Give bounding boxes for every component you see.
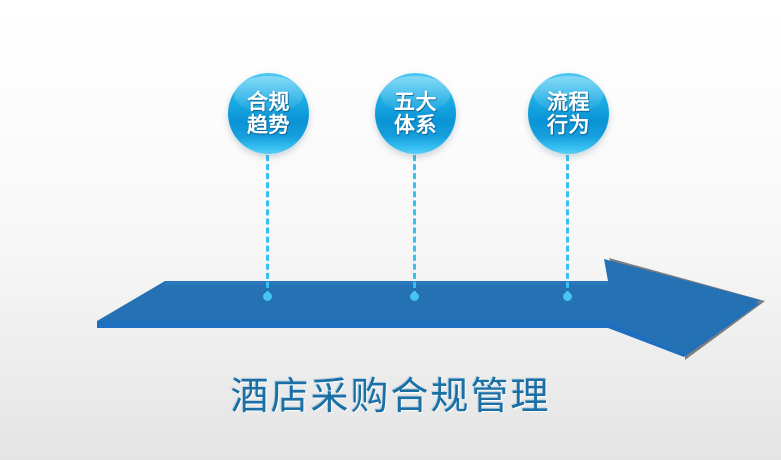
arrow-shadow-edge xyxy=(609,258,765,360)
bubble-label-line2: 趋势 xyxy=(247,114,290,137)
connector-dot-1 xyxy=(263,292,272,301)
connector-line-3 xyxy=(566,155,569,297)
arrow-top-highlight xyxy=(163,281,608,285)
connector-line-1 xyxy=(266,155,269,297)
bubble-five-systems[interactable]: 五大 体系 xyxy=(375,73,456,154)
bubble-label-line1: 流程 xyxy=(547,91,590,114)
arrow-head-edge xyxy=(608,303,760,357)
arrow-bottom-edge xyxy=(97,321,612,328)
slide-canvas: 合规 趋势 五大 体系 流程 行为 酒店采购合规管理 xyxy=(0,0,781,460)
connector-dot-2 xyxy=(410,292,419,301)
bubble-label-line2: 体系 xyxy=(394,114,437,137)
bubble-compliance-trend[interactable]: 合规 趋势 xyxy=(228,73,309,154)
bubble-label-line1: 合规 xyxy=(247,91,290,114)
connector-line-2 xyxy=(413,155,416,297)
bubble-label-line1: 五大 xyxy=(394,91,437,114)
connector-dot-3 xyxy=(563,292,572,301)
arrow-body[interactable] xyxy=(97,259,760,354)
slide-title: 酒店采购合规管理 xyxy=(0,373,781,419)
bubble-process-behavior[interactable]: 流程 行为 xyxy=(528,73,609,154)
bubble-label-line2: 行为 xyxy=(547,114,590,137)
